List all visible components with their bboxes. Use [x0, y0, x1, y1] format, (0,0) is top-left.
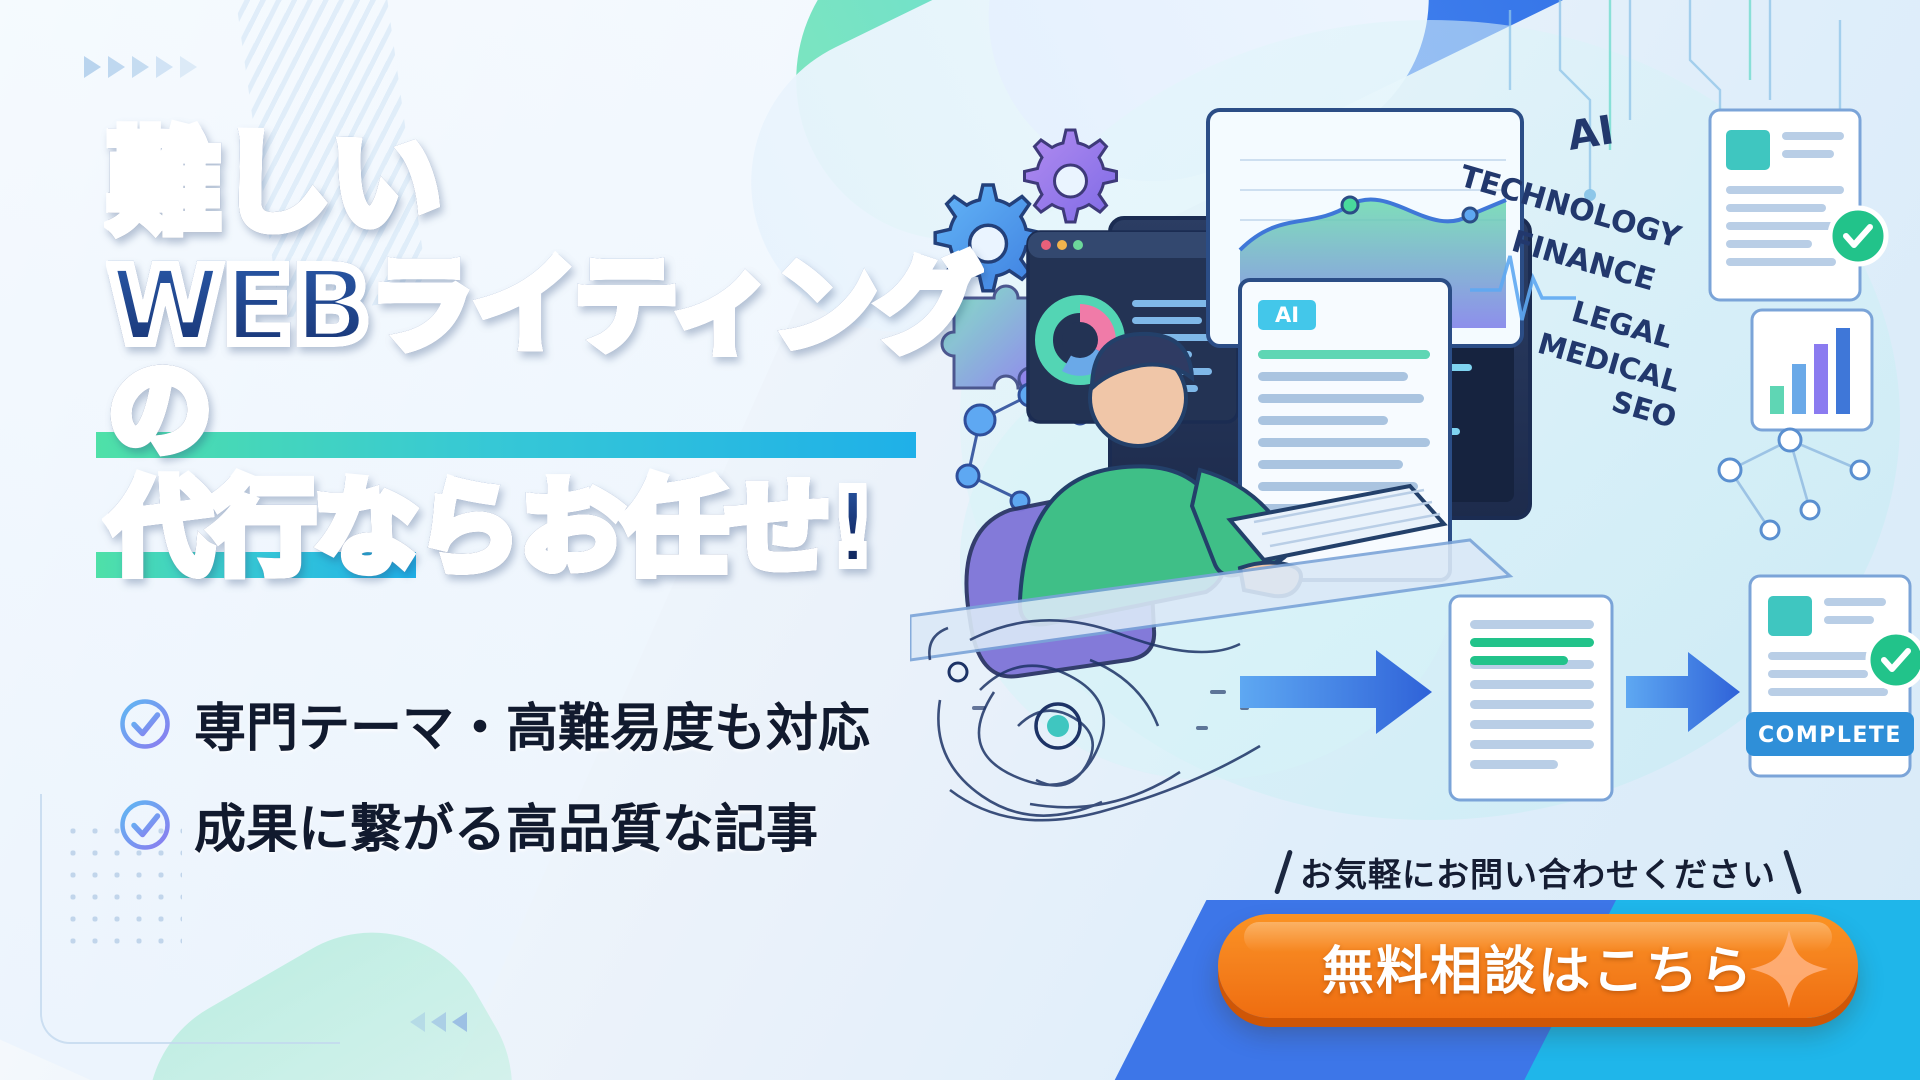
headline-block: 難しい WEBライティングの 代行ならお任せ!	[108, 128, 980, 584]
list-item: 専門テーマ・高難易度も対応	[118, 686, 870, 761]
check-circle-icon	[118, 798, 172, 852]
hero-illustration: </>	[910, 0, 1920, 900]
feature-list: 専門テーマ・高難易度も対応 成果に繋がる高品質な記事	[118, 686, 870, 888]
headline-line-3: 代行ならお任せ!	[108, 476, 875, 580]
list-item: 成果に繋がる高品質な記事	[118, 787, 870, 862]
promo-banner: </>	[0, 0, 1920, 1080]
cta-lead-row: お気軽にお問い合わせください	[1218, 848, 1858, 896]
tag-ai: AI	[1564, 107, 1616, 160]
gear-icon-purple	[1025, 130, 1117, 222]
sparkle-icon	[1746, 926, 1832, 1012]
headline-line-2: WEBライティングの	[108, 254, 980, 462]
headline-line-1-row: 難しい	[108, 128, 980, 240]
free-consultation-button[interactable]: 無料相談はこちら	[1218, 914, 1858, 1018]
headline-line-2-row: WEBライティングの	[108, 254, 980, 462]
output-document	[1450, 596, 1612, 800]
list-item-label: 成果に繋がる高品質な記事	[194, 787, 818, 862]
complete-document: COMPLETE	[1746, 576, 1920, 776]
screen-label-ai: AI	[1275, 303, 1299, 327]
cta-block: お気軽にお問い合わせください 無料相談はこちら	[1218, 848, 1858, 1018]
list-item-label: 専門テーマ・高難易度も対応	[194, 686, 870, 761]
check-circle-icon	[118, 697, 172, 751]
slash-right-decoration	[1783, 849, 1802, 894]
bar-chart-card	[1752, 310, 1872, 430]
check-badge-icon	[1868, 632, 1920, 688]
slash-left-decoration	[1274, 849, 1293, 894]
document-card-checked	[1710, 110, 1886, 300]
copy-column: 難しい WEBライティングの 代行ならお任せ!	[0, 0, 980, 1080]
complete-badge-label: COMPLETE	[1758, 723, 1902, 748]
cta-lead-text: お気軽にお問い合わせください	[1300, 848, 1776, 896]
cta-button-label: 無料相談はこちら	[1322, 929, 1754, 1004]
headline-line-1: 難しい	[108, 128, 441, 240]
headline-line-3-row: 代行ならお任せ!	[108, 476, 980, 580]
